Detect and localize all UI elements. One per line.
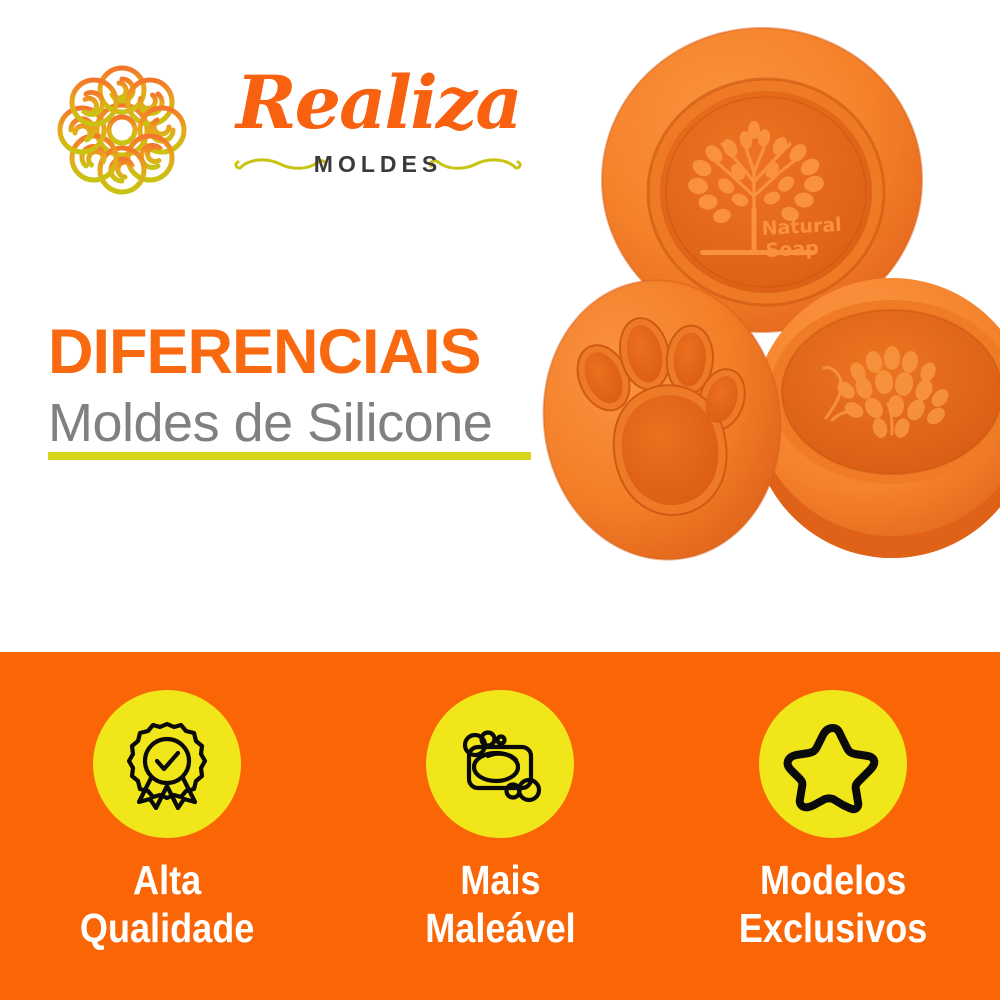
brand-logo[interactable]: Realiza MOLDES [48, 58, 518, 198]
feature-item-mais-maleavel[interactable]: Mais Maleável [350, 652, 650, 952]
top-section: Realiza MOLDES DIFERENCIAIS [0, 0, 1000, 652]
promo-banner: Realiza MOLDES DIFERENCIAIS [0, 0, 1000, 1000]
tree-mold-label-line1: Natural [761, 214, 842, 240]
star-icon [783, 714, 883, 814]
feature-label-2: Mais Maleável [425, 856, 575, 952]
feature-badge-1 [93, 690, 241, 838]
mandala-spiral-flower-logo-icon [48, 60, 196, 200]
features-section: Alta Qualidade [0, 652, 1000, 1000]
feature-badge-3 [759, 690, 907, 838]
feature-item-alta-qualidade[interactable]: Alta Qualidade [17, 652, 317, 952]
tree-mold-label-line2: Soap [765, 237, 819, 262]
silicone-soap-molds-photo: Natural Soap [540, 20, 1000, 600]
brand-subtitle-row: MOLDES [228, 144, 528, 196]
brand-name-text: Realiza [236, 60, 521, 146]
feature-label-3: Modelos Exclusivos [739, 856, 928, 952]
feature-item-modelos-exclusivos[interactable]: Modelos Exclusivos [683, 652, 983, 952]
quality-badge-icon [117, 714, 217, 814]
headline-divider [48, 452, 531, 460]
feature-badge-2 [426, 690, 574, 838]
feature-label-1: Alta Qualidade [79, 856, 253, 952]
soap-bar-bubbles-icon [450, 714, 550, 814]
features-list: Alta Qualidade [0, 652, 1000, 1000]
brand-subtitle-text: MOLDES [228, 144, 528, 184]
